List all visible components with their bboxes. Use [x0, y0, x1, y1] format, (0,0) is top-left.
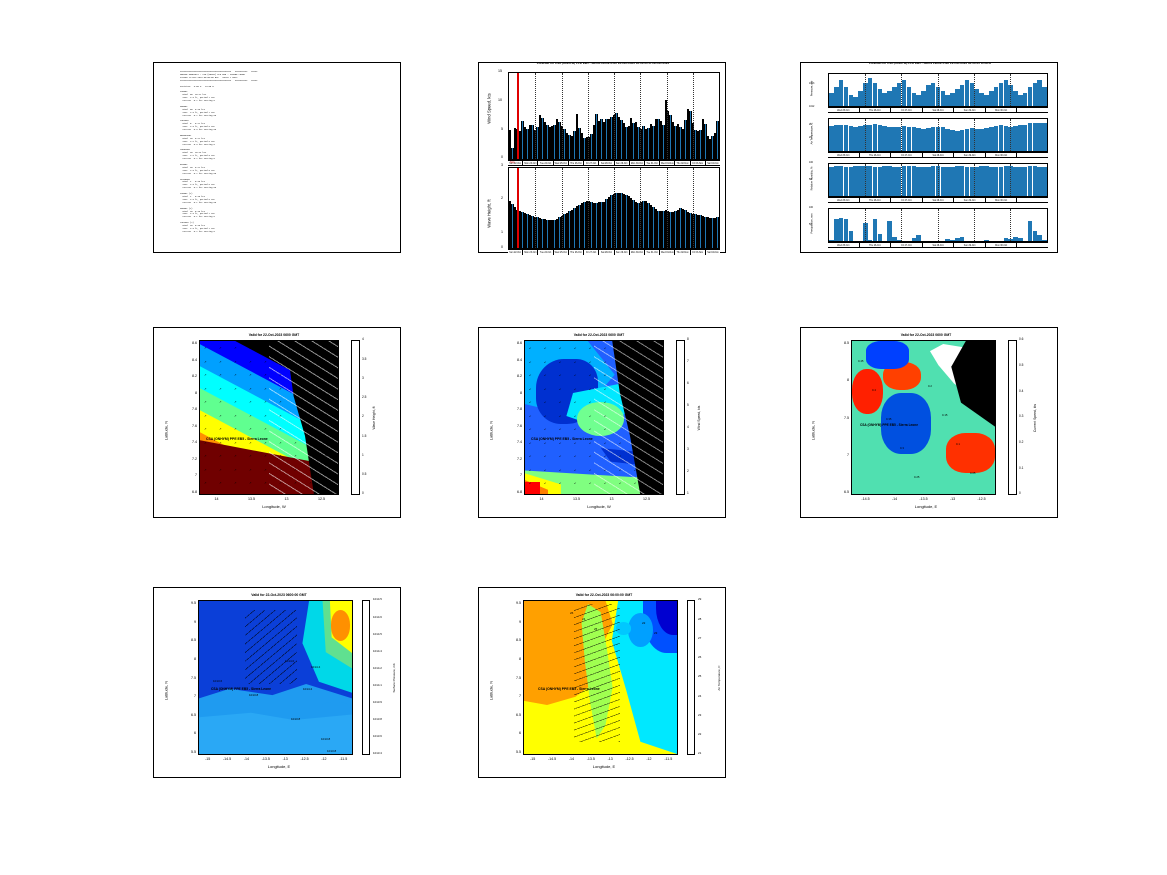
wave-map-canvas: ↗↗↗↗↗↗↗↗↗↗↗↗↗↗↗↗↗↗↗↗↗↗↗↗↗↗↗↗↗↗↗↗↗↗↗↗↗↗↗↗…	[199, 340, 339, 495]
met-day-labels-0: Wed 25-OctThu 26-OctFri 27-OctSat 28-Oct…	[828, 107, 1048, 113]
temp-map-ylabel: Latitude, N	[489, 661, 494, 721]
map-xtick: -12	[316, 757, 332, 761]
wind-vector: ↗	[294, 442, 297, 445]
met-bar	[916, 167, 921, 196]
wind-vector: ↗	[264, 374, 267, 377]
day-label: Sun 29-Oct	[954, 108, 986, 112]
colorbar-tick: 6	[687, 381, 689, 385]
current-map-canvas: 0.450.40.350.30.250.20.150.10.05CSA (ONH…	[851, 340, 996, 495]
wind-vector: ↗	[219, 428, 222, 431]
map-ytick: 9	[184, 620, 196, 624]
panel-wave-height-map: Valid for 22-Oct-2023 0600 GMT Latitude,…	[153, 327, 401, 518]
map-ytick: 8.2	[185, 374, 197, 378]
met-bar	[834, 87, 839, 106]
gridline	[938, 74, 939, 106]
map-ytick: 8	[184, 657, 196, 661]
met-bar	[912, 127, 917, 151]
wind-ytick-15: 15	[498, 69, 502, 73]
map-xtick: -12.5	[974, 497, 990, 501]
wind-vector: ↗	[249, 361, 252, 364]
gridline	[614, 73, 615, 159]
wind-vector: ↙	[574, 455, 577, 458]
met-bar	[921, 129, 926, 151]
colorbar-tick: 29	[698, 597, 701, 601]
met-bar	[892, 127, 897, 151]
day-label: Sat 28-Oct	[923, 243, 955, 247]
pressure-map-xlabel: Longitude, E	[204, 764, 354, 769]
colorbar-tick: 21	[698, 751, 701, 755]
met-bar	[834, 166, 839, 196]
gridline	[1010, 209, 1011, 241]
wind-vector: ↗	[279, 469, 282, 472]
met-bar	[844, 125, 849, 151]
wind-ytick-10: 10	[498, 98, 502, 102]
timeseries-bar	[716, 217, 718, 248]
day-label: Mon 30-Oct	[986, 108, 1018, 112]
map-ytick: 7.2	[185, 457, 197, 461]
wave-map-title: Valid for 22-Oct-2023 0600 GMT	[194, 333, 354, 337]
cur-low-n	[866, 341, 909, 369]
met-bar	[984, 240, 989, 241]
wind-vector: ↗	[249, 388, 252, 391]
met-plot-area-0	[828, 73, 1048, 107]
wind-vector: ↗	[279, 455, 282, 458]
colorbar-tick: 1013.4	[373, 751, 382, 755]
contour-label: 1013.8	[327, 749, 336, 753]
cur-hi-w	[852, 369, 883, 415]
wind-vector: ↗	[264, 482, 267, 485]
wind-vector: ↗	[249, 347, 252, 350]
met-bar	[849, 167, 854, 196]
met-bar	[1004, 80, 1009, 106]
contour-label: 1013.6	[213, 679, 222, 683]
map-ytick: 7	[837, 453, 849, 457]
wind-vector: ↙	[604, 401, 607, 404]
wave-map-colorbar	[351, 340, 360, 495]
site-label: CSA (ONHYM) PPE EB5 - Sierra Leone	[211, 687, 271, 691]
wind-vector: ↗	[279, 374, 282, 377]
contour-label: 0.4	[872, 388, 876, 392]
met-plot-area-1	[828, 118, 1048, 152]
pres-hi4	[331, 610, 351, 641]
colorbar-tick: 28	[698, 617, 701, 621]
wind-vector: ↙	[529, 361, 532, 364]
met-bar	[1013, 237, 1018, 241]
day-label: Mon 23-Oct	[523, 161, 538, 165]
day-label: Fri 27-Oct	[891, 243, 923, 247]
map-xtick: -15	[200, 757, 216, 761]
met-bar	[999, 83, 1004, 106]
met-bar	[1023, 125, 1028, 151]
panel-current-speed-map: Valid for 22-Oct-2023 0600 GMT Latitude,…	[800, 327, 1058, 518]
met-bar	[873, 83, 878, 106]
met-bar	[945, 129, 950, 151]
colorbar-tick: 0.4	[1019, 389, 1023, 393]
map-xtick: 13	[604, 497, 620, 501]
met-bar	[1013, 126, 1018, 151]
met-chart-title: Forecast for CSA (ONHYM) PPE EB5 - Sierr…	[803, 61, 1057, 65]
met-bar	[853, 97, 858, 106]
met-bar	[1042, 87, 1047, 106]
wind-vector: ↙	[619, 469, 622, 472]
map-ytick: 8.6	[510, 341, 522, 345]
day-label: Thu 26-Oct	[860, 243, 892, 247]
wind-vector: ↙	[544, 442, 547, 445]
met-bar	[868, 240, 873, 241]
day-label: Sun 22-Oct	[508, 250, 523, 255]
wind-vector: ↙	[634, 482, 637, 485]
wind-vector: ↗	[279, 388, 282, 391]
met-bar	[1018, 95, 1023, 106]
wind-vector: ↙	[589, 442, 592, 445]
met-bar	[950, 240, 955, 241]
map-ytick: 7	[185, 473, 197, 477]
wave-ytick-1: 1	[501, 230, 503, 234]
met-bar	[868, 125, 873, 151]
wind-map-xlabel: Longitude, W	[529, 504, 669, 509]
met-bar	[974, 129, 979, 151]
met-bar	[950, 167, 955, 196]
wind-map-ylabel: Latitude, N	[489, 401, 494, 461]
wind-vector: ↙	[529, 455, 532, 458]
wind-vector: ↗	[324, 442, 327, 445]
day-label: Sat 04-Nov	[706, 250, 720, 255]
day-label: Sat 28-Oct	[923, 198, 955, 202]
wave-colorbar-label: Wave Height, ft	[372, 388, 376, 448]
coastline-detail	[245, 610, 297, 683]
wind-vector: ↙	[544, 388, 547, 391]
wind-vector: ↗	[264, 388, 267, 391]
colorbar-tick: 1014.4	[373, 649, 382, 653]
wind-vector: ↙	[589, 455, 592, 458]
wind-vector: ↙	[574, 347, 577, 350]
day-label: Mon 30-Oct	[630, 161, 645, 165]
met-ytick: 50	[809, 223, 812, 226]
wind-vector: ↙	[604, 482, 607, 485]
map-ytick: 8	[185, 391, 197, 395]
met-bar	[1023, 93, 1028, 106]
wind-vector: ↙	[589, 361, 592, 364]
met-bar	[1018, 238, 1023, 241]
colorbar-tick: 1014.5	[373, 597, 382, 601]
day-label: Fri 27-Oct	[891, 108, 923, 112]
met-bar	[989, 91, 994, 106]
gridline	[865, 74, 866, 106]
wind-vector: ↗	[219, 455, 222, 458]
wind-vector: ↙	[589, 428, 592, 431]
met-bar	[921, 167, 926, 196]
wind-vector: ↗	[204, 401, 207, 404]
wave-height-axis-label: Wave Height, ft	[487, 184, 492, 244]
map-xtick: 13	[279, 497, 295, 501]
met-bar	[926, 85, 931, 106]
wind-vector: ↙	[619, 455, 622, 458]
map-ytick: 5.5	[509, 750, 521, 754]
contour-label: 1013.8	[321, 737, 330, 741]
met-bar	[887, 127, 892, 151]
map-xtick: -12.5	[297, 757, 313, 761]
wind-vector: ↙	[589, 469, 592, 472]
met-bar	[955, 131, 960, 151]
met-bar	[931, 127, 936, 151]
met-bar	[945, 167, 950, 196]
met-bar	[921, 91, 926, 106]
wind-vector: ↗	[264, 415, 267, 418]
wind-vector: ↗	[264, 361, 267, 364]
map-xtick: 14	[534, 497, 550, 501]
colorbar-tick: 1013.8	[373, 717, 382, 721]
wind-vector: ↗	[324, 482, 327, 485]
temp-map-xlabel: Longitude, E	[529, 764, 679, 769]
map-xtick: -13.5	[258, 757, 274, 761]
wind-vector: ↗	[219, 442, 222, 445]
map-ytick: 9.5	[509, 601, 521, 605]
met-bar	[984, 166, 989, 196]
wind-vector: ↙	[604, 469, 607, 472]
day-label: Wed 25-Oct	[828, 108, 860, 112]
map-ytick: 6.8	[510, 490, 522, 494]
colorbar-tick: 26	[698, 655, 701, 659]
gridline	[562, 168, 563, 248]
now-label-wind: Now	[510, 161, 515, 164]
colorbar-tick: 23	[698, 713, 701, 717]
wind-vector: ↙	[574, 428, 577, 431]
contour-label: 22	[642, 621, 645, 625]
met-bar	[926, 128, 931, 151]
wind-vector: ↙	[574, 442, 577, 445]
met-ytick: 100	[809, 161, 813, 164]
wind-vector: ↗	[234, 415, 237, 418]
wind-colorbar-label: Wind Speed, kts	[697, 388, 701, 448]
colorbar-tick: 22	[698, 732, 701, 736]
met-bar	[853, 166, 858, 196]
wind-vector: ↙	[544, 428, 547, 431]
map-xtick: -13	[277, 757, 293, 761]
map-ytick: 8.4	[185, 358, 197, 362]
contour-label: 0.2	[928, 384, 932, 388]
wind-vector: ↙	[574, 482, 577, 485]
wind-vector: ↗	[219, 361, 222, 364]
day-label: Sun 29-Oct	[954, 198, 986, 202]
wind-vector: ↙	[559, 428, 562, 431]
temp-map-canvas: 2624252223CSA (ONHYM) PPE EB5 - Sierra L…	[523, 600, 678, 755]
wind-vector: ↗	[234, 428, 237, 431]
map-xtick: -13	[945, 497, 961, 501]
map-ytick: 8.5	[184, 638, 196, 642]
temp-map-title: Valid for 22-Oct-2023 06:00:00 GMT	[524, 593, 684, 597]
met-bar	[994, 87, 999, 106]
day-label: Thu 02-Nov	[675, 250, 690, 255]
wind-vector: ↙	[559, 374, 562, 377]
map-ytick: 7.5	[509, 676, 521, 680]
met-bar	[916, 235, 921, 241]
current-map-title: Valid for 22-Oct-2023 0600 GMT	[846, 333, 1006, 337]
wind-band-red	[525, 482, 540, 494]
met-bar	[829, 167, 834, 196]
wind-vector: ↙	[634, 455, 637, 458]
current-map-ylabel: Latitude, N	[811, 401, 816, 461]
wind-vector: ↗	[309, 482, 312, 485]
map-ytick: 7.2	[510, 457, 522, 461]
map-xtick: -12.5	[622, 757, 638, 761]
map-ytick: 7	[509, 694, 521, 698]
temp-blue2	[628, 613, 652, 647]
met-bar	[907, 166, 912, 196]
map-xtick: 13.5	[569, 497, 585, 501]
met-bar	[834, 125, 839, 151]
wind-vector: ↙	[559, 415, 562, 418]
colorbar-tick: 2.5	[362, 395, 366, 399]
wind-vector: ↗	[264, 428, 267, 431]
gridline	[1010, 74, 1011, 106]
map-ytick: 7.5	[837, 416, 849, 420]
wind-vector: ↗	[219, 388, 222, 391]
gridline	[901, 119, 902, 151]
day-label: Fri 27-Oct	[584, 161, 599, 165]
now-marker-line-wind	[517, 73, 519, 159]
met-bar	[979, 93, 984, 106]
map-ytick: 8.6	[185, 341, 197, 345]
wave-ytick-2: 2	[501, 196, 503, 200]
wind-vector: ↙	[604, 428, 607, 431]
wind-vector: ↗	[219, 401, 222, 404]
met-bar	[902, 126, 907, 151]
map-ytick: 7	[184, 694, 196, 698]
met-bar	[873, 124, 878, 151]
map-xtick: 12.5	[639, 497, 655, 501]
map-ytick: 5.5	[184, 750, 196, 754]
met-bar	[960, 130, 965, 151]
colorbar-tick: 27	[698, 636, 701, 640]
day-label: Tue 24-Oct	[538, 250, 553, 255]
met-bar	[882, 93, 887, 106]
met-bar	[844, 167, 849, 196]
contour-label: 26	[570, 611, 573, 615]
wind-vector: ↙	[604, 347, 607, 350]
map-ytick: 8	[837, 378, 849, 382]
met-ytick: 100	[809, 206, 813, 209]
colorbar-tick: 1014.2	[373, 666, 382, 670]
colorbar-tick: 0	[1019, 491, 1021, 495]
gridline	[974, 209, 975, 241]
met-bar	[979, 129, 984, 151]
met-plot-area-3	[828, 208, 1048, 242]
gridline	[865, 209, 866, 241]
wind-vector: ↙	[544, 374, 547, 377]
current-map-xlabel: Longitude, E	[856, 504, 996, 509]
met-bar	[950, 130, 955, 151]
contour-label: 24	[582, 617, 585, 621]
met-bar	[1033, 83, 1038, 106]
met-bar	[907, 87, 912, 106]
wind-vector: ↙	[559, 442, 562, 445]
timeseries-bar	[716, 121, 718, 159]
met-bar	[1028, 221, 1033, 241]
wind-vector: ↗	[219, 347, 222, 350]
wind-vector: ↗	[264, 455, 267, 458]
map-xtick: -14	[563, 757, 579, 761]
panel-met-timeseries: Forecast for CSA (ONHYM) PPE EB5 - Sierr…	[800, 62, 1058, 253]
day-label	[1017, 243, 1048, 247]
wind-vector: ↙	[619, 442, 622, 445]
wind-vector: ↙	[559, 469, 562, 472]
map-ytick: 7.5	[184, 676, 196, 680]
gridline	[588, 73, 589, 159]
current-colorbar-label: Current Speed, kts	[1033, 386, 1037, 450]
colorbar-tick: 1014.5	[373, 632, 382, 636]
wind-vector: ↙	[559, 401, 562, 404]
wind-vector: ↗	[204, 361, 207, 364]
map-ytick: 6	[184, 731, 196, 735]
wind-map-canvas: ↙↙↙↙↙↙↙↙↙↙↙↙↙↙↙↙↙↙↙↙↙↙↙↙↙↙↙↙↙↙↙↙↙↙↙↙↙↙↙↙…	[524, 340, 664, 495]
met-bar	[1018, 167, 1023, 196]
wind-vector: ↗	[249, 442, 252, 445]
met-bar	[834, 219, 839, 241]
wind-vector: ↙	[589, 347, 592, 350]
met-bar	[999, 167, 1004, 196]
wind-vector: ↗	[219, 482, 222, 485]
site-label: CSA (ONHYM) PPE EB5 - Sierra Leone	[206, 437, 268, 441]
map-xtick: -11.5	[335, 757, 351, 761]
day-label: Sun 29-Oct	[615, 161, 630, 165]
wind-vector: ↗	[264, 442, 267, 445]
day-label: Sat 28-Oct	[599, 161, 614, 165]
day-label: Thu 26-Oct	[860, 153, 892, 157]
met-bar	[945, 95, 950, 106]
wind-vector: ↗	[234, 482, 237, 485]
map-ytick: 8.5	[837, 341, 849, 345]
map-xtick: -15	[525, 757, 541, 761]
met-bar	[1037, 123, 1042, 151]
day-label: Wed 25-Oct	[828, 198, 860, 202]
wind-vector: ↗	[204, 442, 207, 445]
met-bar	[941, 127, 946, 151]
map-ytick: 7	[510, 473, 522, 477]
day-label: Wed 25-Oct	[828, 153, 860, 157]
day-label: Mon 30-Oct	[986, 243, 1018, 247]
map-ytick: 6.8	[185, 490, 197, 494]
wind-vector: ↙	[529, 388, 532, 391]
wave-map-xlabel: Longitude, W	[204, 504, 344, 509]
wind-wave-day-labels: Sun 22-OctMon 23-OctTue 24-OctWed 25-Oct…	[508, 160, 720, 166]
met-bar	[994, 167, 999, 196]
wind-vector: ↗	[264, 469, 267, 472]
wind-vector: ↙	[634, 469, 637, 472]
wind-vector: ↗	[249, 428, 252, 431]
contour-label: 25	[594, 627, 597, 631]
gridline	[640, 73, 641, 159]
contour-label: 1014.4	[311, 665, 320, 669]
wind-vector: ↙	[589, 401, 592, 404]
wind-vector: ↙	[529, 401, 532, 404]
wind-vector: ↗	[204, 428, 207, 431]
wind-vector: ↙	[559, 361, 562, 364]
met-bar	[955, 238, 960, 241]
map-xtick: -14	[238, 757, 254, 761]
wind-vector: ↗	[219, 374, 222, 377]
wave-ytick-0: 0	[501, 245, 503, 249]
wind-vector: ↙	[544, 482, 547, 485]
met-bar	[989, 127, 994, 151]
wind-vector: ↗	[234, 469, 237, 472]
wind-vector: ↙	[649, 469, 652, 472]
met-bar	[839, 166, 844, 196]
gridline	[667, 73, 668, 159]
wind-vector: ↗	[279, 401, 282, 404]
met-ytick: 26	[809, 136, 812, 139]
day-label: Fri 03-Nov	[691, 161, 706, 165]
gridline	[667, 168, 668, 248]
